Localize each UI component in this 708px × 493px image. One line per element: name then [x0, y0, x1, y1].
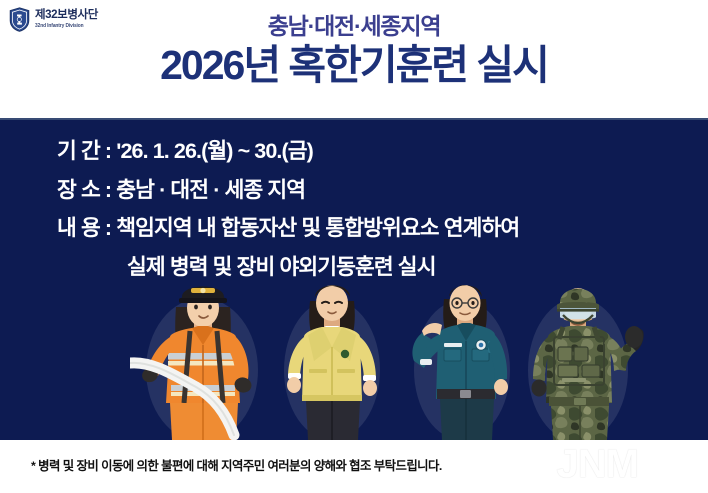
figure-firefighter	[130, 275, 280, 440]
poster-footer: * 병력 및 장비 이동에 의한 불편에 대해 지역주민 여러분의 양해와 협조…	[0, 440, 708, 493]
poster-root: 제32보병사단 32nd Infantry Division 충남·대전·세종지…	[0, 0, 708, 493]
poster-header: 제32보병사단 32nd Infantry Division 충남·대전·세종지…	[0, 0, 708, 118]
watermark-sub: NEWS	[643, 462, 696, 482]
info-list: 기 간 : '26. 1. 26.(월) ~ 30.(금) 장 소 : 충남 ·…	[57, 141, 519, 278]
watermark: JNM NEWS	[557, 442, 696, 487]
title-block: 충남·대전·세종지역 2026년 혹한기훈련 실시	[0, 14, 708, 89]
info-line-content: 내 용 : 책임지역 내 합동자산 및 통합방위요소 연계하여	[57, 218, 519, 240]
illustration-group	[0, 275, 708, 440]
watermark-main: JNM	[557, 442, 638, 487]
figure-civil-defense-official	[272, 275, 394, 440]
poster-body: 기 간 : '26. 1. 26.(월) ~ 30.(금) 장 소 : 충남 ·…	[0, 118, 708, 440]
body-top-divider	[0, 118, 708, 120]
figure-police-officer	[400, 275, 524, 440]
info-line-location: 장 소 : 충남 · 대전 · 세종 지역	[57, 180, 519, 202]
info-line-period: 기 간 : '26. 1. 26.(월) ~ 30.(금)	[57, 141, 519, 163]
figure-soldier	[516, 275, 644, 440]
footer-note: * 병력 및 장비 이동에 의한 불편에 대해 지역주민 여러분의 양해와 협조…	[31, 456, 442, 474]
poster-title: 2026년 혹한기훈련 실시	[0, 41, 708, 89]
poster-subtitle: 충남·대전·세종지역	[0, 14, 708, 40]
